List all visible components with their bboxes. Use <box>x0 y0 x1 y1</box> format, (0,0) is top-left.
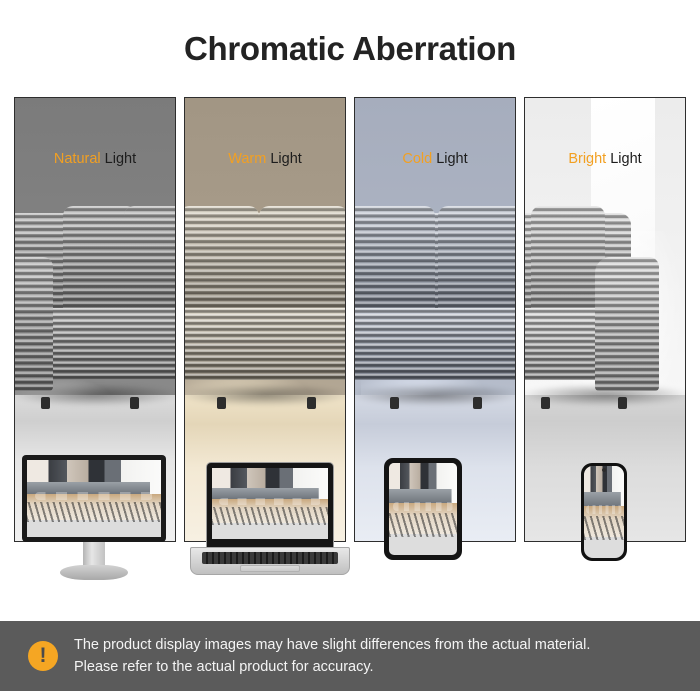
corduroy-texture <box>14 257 53 391</box>
disclaimer-bar: ! The product display images may have sl… <box>0 621 700 691</box>
panel-caption: Bright Light <box>525 152 685 167</box>
sofa <box>355 213 515 395</box>
panel-caption-accent: Warm <box>228 151 266 167</box>
room-floor <box>15 395 175 541</box>
exclamation-glyph: ! <box>40 645 47 666</box>
disclaimer-line-2: Please refer to the actual product for a… <box>74 656 590 678</box>
room-floor <box>355 395 515 541</box>
sofa-cushion <box>438 206 516 319</box>
panel-caption-accent: Bright <box>568 151 606 167</box>
sofa <box>185 213 345 395</box>
panel-warm-light[interactable]: Warm Light <box>184 97 346 542</box>
panel-caption: Cold Light <box>355 152 515 167</box>
corduroy-texture <box>354 206 435 319</box>
panel-caption-accent: Cold <box>402 151 432 167</box>
panel-caption: Natural Light <box>15 152 175 167</box>
corduroy-texture <box>259 206 346 319</box>
sofa-leg <box>130 397 139 409</box>
sofa-leg <box>217 397 226 409</box>
sofa-cushion <box>259 206 346 319</box>
panel-caption-rest: Light <box>266 151 301 167</box>
sofa-leg <box>41 397 50 409</box>
sofa-armrest <box>14 257 53 391</box>
laptop-base <box>190 547 350 575</box>
corduroy-texture <box>184 308 346 381</box>
sofa <box>525 213 685 395</box>
corduroy-texture <box>124 206 176 319</box>
corduroy-texture <box>354 308 516 381</box>
sofa-seat <box>354 308 516 381</box>
sofa-cushion <box>354 206 435 319</box>
panel-caption-rest: Light <box>101 151 136 167</box>
sofa-leg <box>307 397 316 409</box>
corduroy-texture <box>184 206 259 319</box>
corduroy-texture <box>438 206 516 319</box>
sofa-leg <box>390 397 399 409</box>
sofa-seat <box>184 308 346 381</box>
disclaimer-line-1: The product display images may have slig… <box>74 634 590 656</box>
corduroy-texture <box>531 206 605 319</box>
panel-caption-rest: Light <box>432 151 467 167</box>
sofa-armrest <box>595 257 659 391</box>
sofa-leg <box>473 397 482 409</box>
panel-bright-light[interactable]: Bright Light <box>524 97 686 542</box>
lighting-comparison-row: Natural Light Warm Light <box>0 97 700 542</box>
panel-natural-light[interactable]: Natural Light <box>14 97 176 542</box>
sofa-leg <box>541 397 550 409</box>
panel-caption: Warm Light <box>185 152 345 167</box>
monitor-neck <box>83 542 105 569</box>
sofa-cushion <box>124 206 176 319</box>
laptop-trackpad <box>240 565 300 572</box>
sofa-cushion <box>531 206 605 319</box>
monitor-foot <box>60 565 128 580</box>
corduroy-texture <box>595 257 659 391</box>
page-title-bar: Chromatic Aberration <box>0 22 700 74</box>
exclamation-circle-icon: ! <box>28 641 58 671</box>
sofa-cushion <box>184 206 259 319</box>
room-floor <box>185 395 345 541</box>
page-title: Chromatic Aberration <box>184 32 516 65</box>
laptop-keyboard <box>202 552 338 564</box>
panel-caption-accent: Natural <box>54 151 101 167</box>
sofa-leg <box>618 397 627 409</box>
sofa <box>15 213 175 395</box>
room-floor <box>525 395 685 541</box>
panel-caption-rest: Light <box>606 151 641 167</box>
disclaimer-text: The product display images may have slig… <box>74 634 590 678</box>
panel-cold-light[interactable]: Cold Light <box>354 97 516 542</box>
